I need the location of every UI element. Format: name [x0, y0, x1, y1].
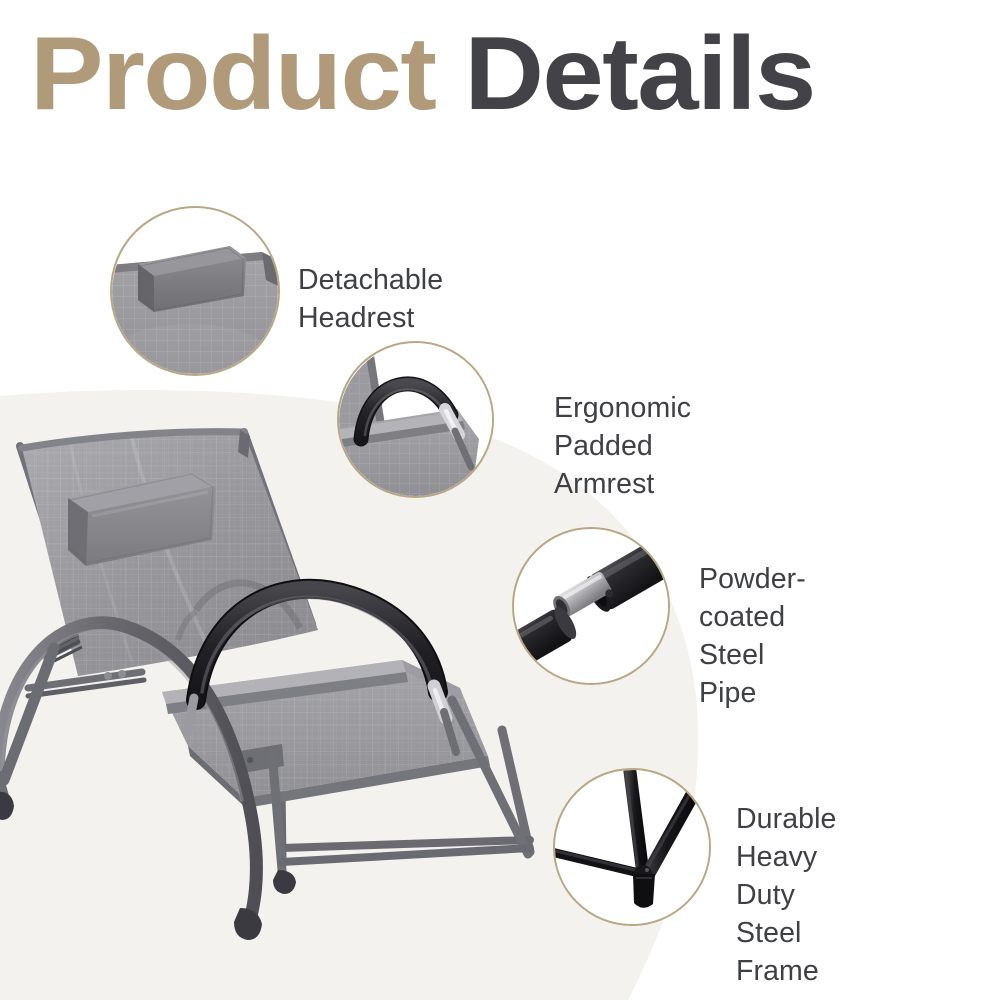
armrest-photo-icon	[339, 343, 494, 498]
page-title: Product Details	[30, 20, 815, 129]
headrest-photo-icon	[112, 208, 280, 376]
infographic-canvas: Product Details	[0, 0, 1000, 1000]
steel-pipe-circle-frame	[512, 527, 670, 685]
title-word-details: Details	[464, 16, 814, 132]
title-word-product: Product	[30, 16, 435, 132]
steel-pipe-photo-icon	[514, 529, 670, 685]
steel-frame-label: Durable Heavy Duty Steel Frame	[736, 800, 837, 990]
armrest-circle-frame	[337, 341, 494, 498]
steel-frame-circle-frame	[553, 768, 711, 926]
armrest-label: Ergonomic Padded Armrest	[554, 389, 691, 503]
steel-frame-photo-icon	[555, 770, 711, 926]
headrest-circle-frame	[110, 206, 280, 376]
headrest-label: Detachable Headrest	[298, 261, 443, 337]
steel-pipe-label: Powder-coated Steel Pipe	[699, 560, 806, 712]
